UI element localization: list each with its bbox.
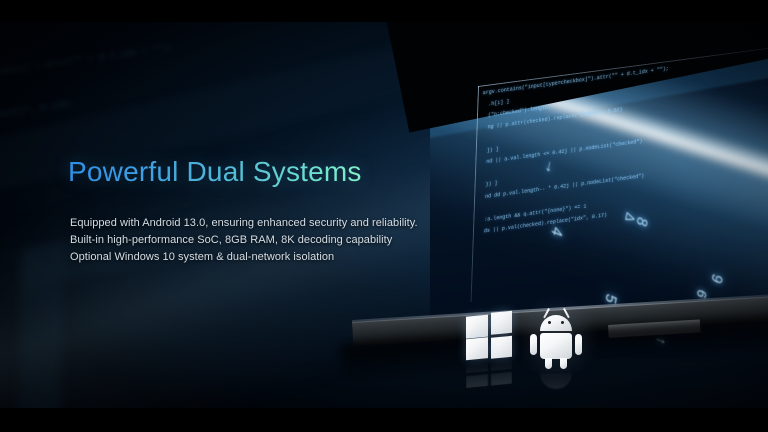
letterbox-bar-top [0, 0, 768, 22]
feature-line-2: Built-in high-performance SoC, 8GB RAM, … [70, 232, 418, 249]
letterbox-bar-bottom [0, 408, 768, 432]
feature-line-1: Equipped with Android 13.0, ensuring enh… [70, 215, 418, 232]
page-title: Powerful Dual Systems [68, 156, 362, 188]
slide-canvas: type=checkbox]").attr("" + d.t_idx + "")… [0, 0, 768, 432]
feature-line-3: Optional Windows 10 system & dual-networ… [70, 249, 418, 266]
feature-description-list: Equipped with Android 13.0, ensuring enh… [70, 215, 418, 266]
